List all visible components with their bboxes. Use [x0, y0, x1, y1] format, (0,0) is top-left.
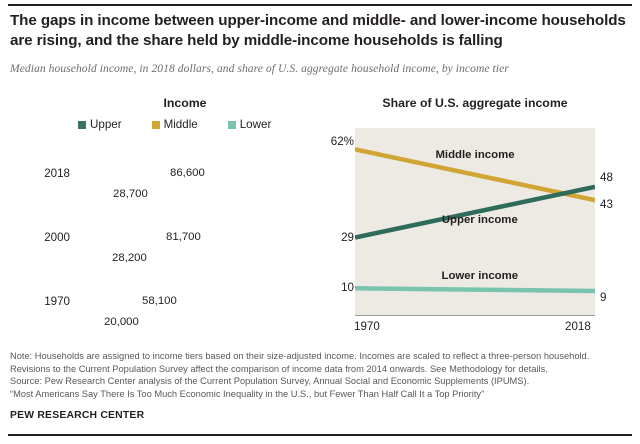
chart-notes: Note: Households are assigned to income … [10, 350, 630, 400]
bar-value-label: 81,700 [166, 231, 201, 243]
line-end-label-middle: 43 [600, 198, 613, 211]
legend-item-upper: Upper [78, 118, 122, 131]
bar-2000-lower: 28,200 [78, 250, 106, 268]
note-line-2: Revisions to the Current Population Surv… [10, 363, 630, 376]
organization-name: PEW RESEARCH CENTER [10, 410, 144, 421]
series-annotation-upper-income: Upper income [442, 214, 518, 226]
line-series-lower-income [355, 288, 595, 291]
legend-label-lower: Lower [240, 118, 272, 131]
bar-year-label-1970: 1970 [0, 295, 70, 308]
legend-label-upper: Upper [90, 118, 122, 131]
bottom-divider [8, 434, 632, 436]
legend-item-lower: Lower [228, 118, 272, 131]
line-chart-title: Share of U.S. aggregate income [355, 96, 595, 110]
bar-year-label-2000: 2000 [0, 231, 70, 244]
bar-2000-middle: 81,700 [78, 229, 160, 247]
line-start-label-lower: 10 [330, 281, 354, 294]
bar-value-label: 20,000 [104, 316, 139, 328]
legend-swatch-middle-icon [152, 121, 160, 129]
legend-swatch-upper-icon [78, 121, 86, 129]
bar-1970-middle: 58,100 [78, 293, 136, 311]
line-series-upper-income [355, 187, 595, 238]
page-subtitle: Median household income, in 2018 dollars… [10, 62, 626, 75]
bar-chart: 2018$207,40086,60028,7002000192,20081,70… [0, 140, 330, 340]
series-annotation-middle-income: Middle income [435, 149, 514, 161]
bar-chart-legend: Upper Middle Lower [78, 118, 301, 131]
bar-2018-middle: 86,600 [78, 165, 164, 183]
line-start-label-upper: 29 [330, 231, 354, 244]
bar-value-label: 28,700 [113, 188, 148, 200]
bar-2018-upper: $207,400 [78, 144, 285, 162]
note-line-4: “Most Americans Say There Is Too Much Ec… [10, 388, 630, 401]
bar-1970-upper: 126,100 [78, 272, 204, 290]
page-title: The gaps in income between upper-income … [10, 11, 626, 50]
bar-1970-lower: 20,000 [78, 314, 98, 332]
x-axis-tick-1970: 1970 [354, 320, 380, 333]
line-end-label-lower: 9 [600, 291, 606, 304]
bar-value-label: 28,200 [112, 252, 147, 264]
note-line-3: Source: Pew Research Center analysis of … [10, 375, 630, 388]
bar-value-label: 126,100 [157, 274, 198, 286]
line-end-label-upper: 48 [600, 171, 613, 184]
bar-year-label-2018: 2018 [0, 167, 70, 180]
series-annotation-lower-income: Lower income [442, 270, 519, 282]
legend-swatch-lower-icon [228, 121, 236, 129]
bar-2000-upper: 192,200 [78, 208, 270, 226]
bar-chart-title: Income [80, 96, 290, 110]
line-plot-baseline [355, 315, 595, 316]
legend-label-middle: Middle [164, 118, 198, 131]
note-line-1: Note: Households are assigned to income … [10, 350, 630, 363]
bar-value-label: $207,400 [231, 146, 279, 158]
top-divider [8, 4, 632, 6]
x-axis-tick-2018: 2018 [565, 320, 591, 333]
legend-item-middle: Middle [152, 118, 198, 131]
bar-2018-lower: 28,700 [78, 186, 107, 204]
bar-value-label: 86,600 [170, 167, 205, 179]
bar-value-label: 192,200 [223, 210, 264, 222]
line-start-label-middle: 62% [330, 135, 354, 148]
line-chart: 62% 29 10 48 43 9 Middle income Upper in… [330, 110, 640, 340]
bar-value-label: 58,100 [142, 295, 177, 307]
